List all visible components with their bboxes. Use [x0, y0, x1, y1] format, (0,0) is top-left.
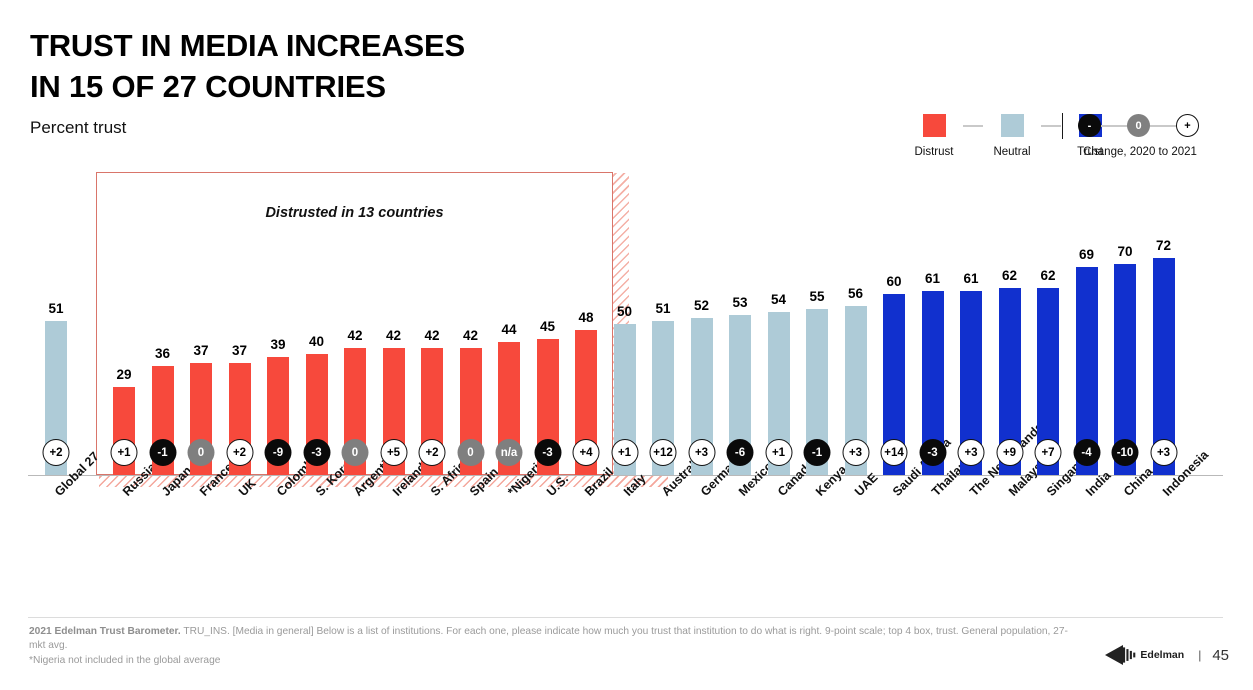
bar-group: 54+1Canada: [768, 312, 790, 475]
bar-group: 55-1Kenya: [806, 309, 828, 475]
bar-value-label: 45: [540, 319, 555, 334]
bar-group: 62+7Singapore: [1037, 288, 1059, 475]
bar-value-label: 61: [925, 271, 940, 286]
legend-item-distrust: Distrust: [905, 114, 963, 158]
neutral-swatch: [1001, 114, 1024, 137]
change-badge[interactable]: -1: [804, 439, 831, 466]
change-badge[interactable]: +12: [650, 439, 677, 466]
bar-group: 420Spain: [460, 348, 482, 475]
brand-name: Edelman: [1140, 649, 1184, 661]
change-badge[interactable]: +7: [1035, 439, 1062, 466]
change-badge[interactable]: +3: [958, 439, 985, 466]
bar-value-label: 54: [771, 292, 786, 307]
bar-value-label: 39: [270, 337, 285, 352]
change-connector-1: [1101, 125, 1127, 127]
bar-value-label: 69: [1079, 247, 1094, 262]
bar-value-label: 53: [732, 295, 747, 310]
bar-group: 61-3Thailand: [922, 291, 944, 475]
change-negative-icon: -: [1078, 114, 1101, 137]
bar-group: 420Argentina: [344, 348, 366, 475]
bar-group: 36-1Japan: [152, 366, 174, 475]
bar-group: 29+1Russia: [113, 387, 135, 475]
change-badge[interactable]: -6: [727, 439, 754, 466]
brand-separator: |: [1198, 648, 1201, 662]
chart-plot-area: Distrusted in 13 countries 51+2Global 27…: [0, 160, 1253, 480]
bar-group: 44n/a*Nigeria: [498, 342, 520, 475]
change-badge[interactable]: +1: [765, 439, 792, 466]
bar-group: 56+3UAE: [845, 306, 867, 475]
change-badge[interactable]: +9: [996, 439, 1023, 466]
legend-label-distrust: Distrust: [915, 146, 954, 158]
bar-group: 39-9Colombia: [267, 357, 289, 475]
change-badge[interactable]: 0: [457, 439, 484, 466]
bar-group: 62+9Malaysia: [999, 288, 1021, 475]
bar-value-label: 42: [424, 328, 439, 343]
footnote-detail: TRU_INS. [Media in general] Below is a l…: [29, 626, 1068, 651]
chart-subtitle: Percent trust: [30, 118, 126, 138]
change-zero-icon: 0: [1127, 114, 1150, 137]
legend-connector-2: [1041, 114, 1061, 137]
distrust-swatch: [923, 114, 946, 137]
legend-divider: [1062, 113, 1063, 139]
edelman-logo-icon: [1103, 644, 1137, 666]
bar-group: 69-4India: [1076, 267, 1098, 475]
legend-label-neutral: Neutral: [993, 146, 1030, 158]
bar-value-label: 42: [386, 328, 401, 343]
change-badge[interactable]: +2: [419, 439, 446, 466]
bar-group: 70-10China: [1114, 264, 1136, 475]
change-badge[interactable]: 0: [342, 439, 369, 466]
bar-group: 72+3Indonesia: [1153, 258, 1175, 475]
change-badge[interactable]: +3: [688, 439, 715, 466]
bar-value-label: 42: [347, 328, 362, 343]
change-legend-label: Change, 2020 to 2021: [1074, 146, 1206, 158]
bar-group: 52+3Germany: [691, 318, 713, 475]
change-positive-icon: +: [1176, 114, 1199, 137]
change-badge[interactable]: 0: [188, 439, 215, 466]
brand-footer: Edelman | 45: [1103, 640, 1229, 670]
change-badge[interactable]: +2: [226, 439, 253, 466]
change-badge[interactable]: -3: [303, 439, 330, 466]
bar-value-label: 56: [848, 286, 863, 301]
bar-value-label: 61: [963, 271, 978, 286]
change-badge[interactable]: -10: [1112, 439, 1139, 466]
footnote-nigeria-note: *Nigeria not included in the global aver…: [29, 654, 1069, 668]
bar-group: 61+3The Netherlands: [960, 291, 982, 475]
bar-group: 50+1Italy: [614, 324, 636, 475]
change-badge[interactable]: +3: [842, 439, 869, 466]
change-badge[interactable]: +3: [1150, 439, 1177, 466]
bar-group: 42+5Ireland: [383, 348, 405, 475]
legend-item-neutral: Neutral: [983, 114, 1041, 158]
change-badge[interactable]: +5: [380, 439, 407, 466]
bar-group: 37+2UK: [229, 363, 251, 475]
page-title: TRUST IN MEDIA INCREASES IN 15 OF 27 COU…: [30, 26, 465, 108]
bar-value-label: 37: [232, 343, 247, 358]
bar-group: 53-6Mexico: [729, 315, 751, 475]
bar-value-label: 40: [309, 334, 324, 349]
change-badge[interactable]: -3: [534, 439, 561, 466]
legend-connector-1: [963, 114, 983, 137]
bar-value-label: 62: [1040, 268, 1055, 283]
change-badge[interactable]: +1: [111, 439, 138, 466]
footnote-source: 2021 Edelman Trust Barometer.: [29, 626, 181, 637]
chart-baseline: [28, 475, 1223, 476]
bar-group: 42+2S. Africa: [421, 348, 443, 475]
bar-value-label: 37: [193, 343, 208, 358]
change-badge[interactable]: -9: [265, 439, 292, 466]
bar-group: 51+12Australia: [652, 321, 674, 475]
bar-value-label: 29: [116, 367, 131, 382]
change-badge[interactable]: -3: [919, 439, 946, 466]
bar-value-label: 42: [463, 328, 478, 343]
bar-value-label: 55: [809, 289, 824, 304]
bar-group: 51+2Global 27: [45, 321, 67, 475]
bar-value-label: 51: [48, 301, 63, 316]
bar-value-label: 51: [655, 301, 670, 316]
bar-group: 48+4Brazil: [575, 330, 597, 475]
change-badge[interactable]: +2: [43, 439, 70, 466]
bar-value-label: 60: [886, 274, 901, 289]
bar-value-label: 72: [1156, 238, 1171, 253]
distrust-annotation-label: Distrusted in 13 countries: [265, 205, 443, 221]
change-badge[interactable]: +14: [881, 439, 908, 466]
bar-group: 45-3U.S.: [537, 339, 559, 475]
bar-value-label: 70: [1117, 244, 1132, 259]
bar-group: 60+14Saudi Arabia: [883, 294, 905, 475]
bar-value-label: 62: [1002, 268, 1017, 283]
page-number: 45: [1212, 647, 1229, 664]
footer-divider: [28, 617, 1223, 618]
change-badge[interactable]: -1: [149, 439, 176, 466]
change-badge[interactable]: n/a: [496, 439, 523, 466]
bar-value-label: 50: [617, 304, 632, 319]
footnote: 2021 Edelman Trust Barometer. TRU_INS. […: [29, 625, 1069, 668]
bar-value-label: 52: [694, 298, 709, 313]
change-connector-2: [1150, 125, 1176, 127]
change-badge[interactable]: -4: [1073, 439, 1100, 466]
bar-value-label: 36: [155, 346, 170, 361]
bar-value-label: 48: [578, 310, 593, 325]
change-badge[interactable]: +4: [573, 439, 600, 466]
bar-group: 40-3S. Korea: [306, 354, 328, 475]
bar-value-label: 44: [501, 322, 516, 337]
change-badge[interactable]: +1: [611, 439, 638, 466]
bar-group: 370France: [190, 363, 212, 475]
change-legend: - 0 + Change, 2020 to 2021: [1078, 114, 1206, 158]
